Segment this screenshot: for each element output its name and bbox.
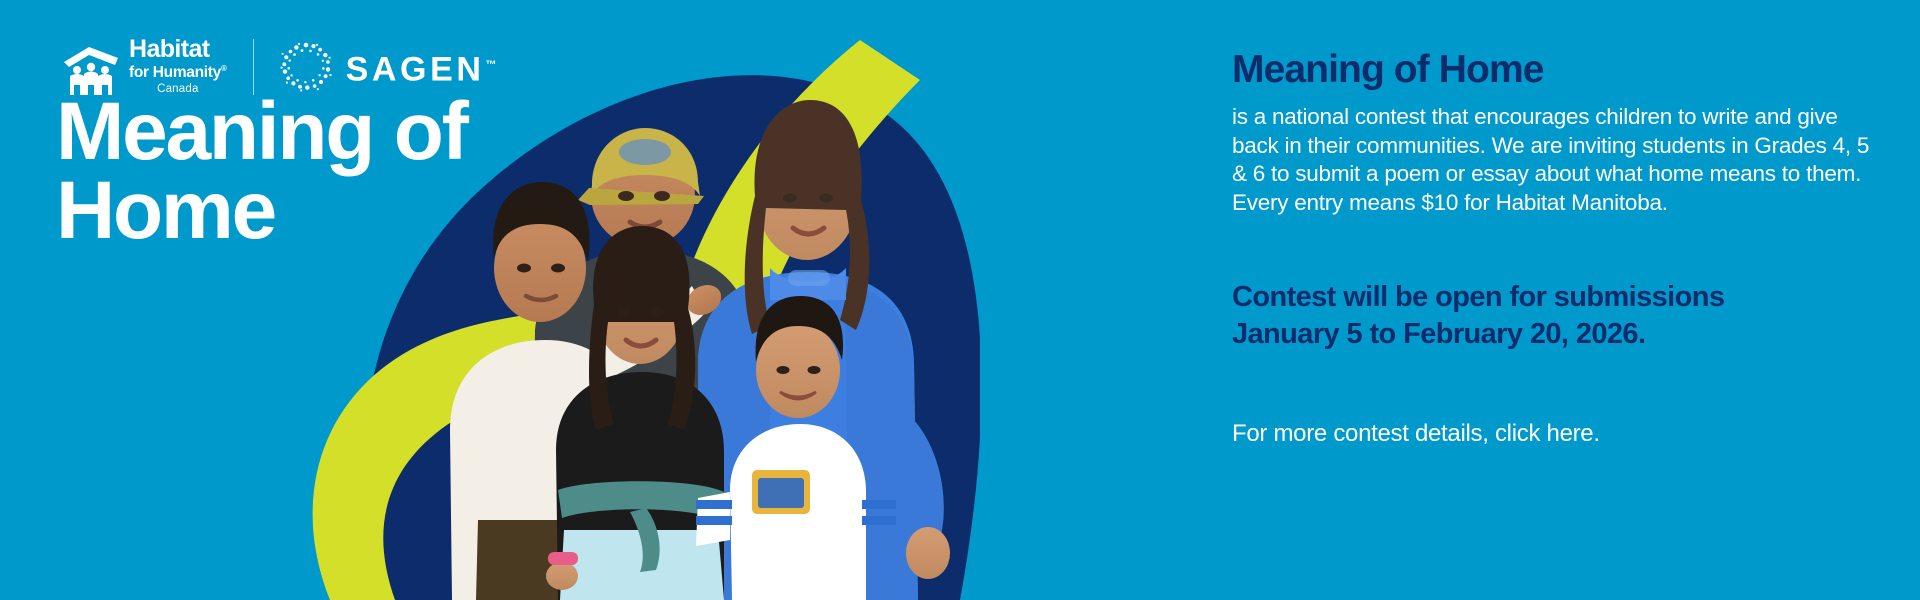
page-title: Meaning of Home: [56, 92, 467, 250]
headline-line-2: Home: [56, 171, 467, 250]
cta-text: For more contest details, click here.: [1232, 419, 1880, 449]
contest-dates-line-1: Contest will be open for submissions: [1232, 279, 1880, 316]
info-title: Meaning of Home: [1232, 48, 1880, 92]
cta-prefix: For more contest details,: [1232, 420, 1495, 447]
headline-line-1: Meaning of: [56, 92, 467, 171]
left-panel: Habitat for Humanity® Canada: [0, 0, 1200, 600]
habitat-line1: Habitat: [129, 37, 227, 61]
info-panel: Meaning of Home is a national contest th…: [1232, 0, 1920, 600]
info-body: is a national contest that encourages ch…: [1232, 103, 1880, 217]
habitat-line2: for Humanity®: [129, 61, 227, 81]
sagen-wordmark: SAGEN™: [346, 48, 497, 86]
contest-dates-line-2: January 5 to February 20, 2026.: [1232, 316, 1880, 353]
contest-details-link[interactable]: click here.: [1495, 420, 1600, 447]
contest-dates: Contest will be open for submissions Jan…: [1232, 279, 1880, 353]
meaning-of-home-banner: Habitat for Humanity® Canada: [0, 0, 1920, 600]
